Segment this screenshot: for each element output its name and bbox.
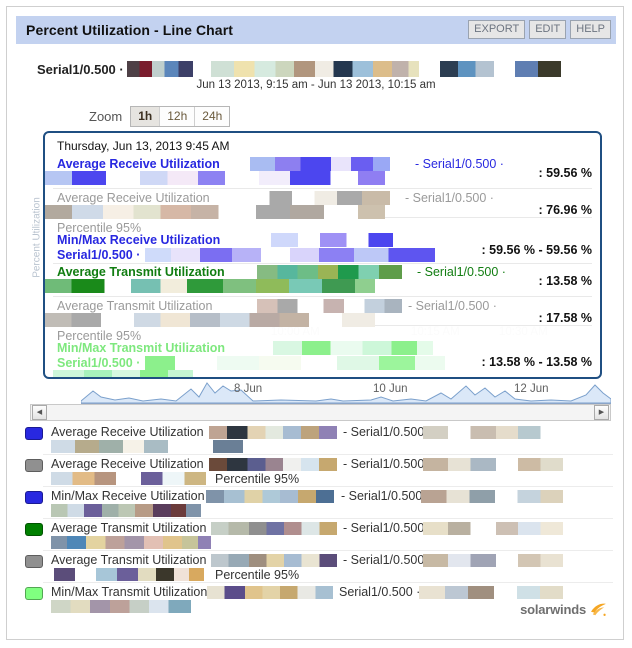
tooltip-series-id: - Serial1/0.500 ·: [405, 191, 494, 205]
legend-item[interactable]: Average Receive Utilization - Serial1/0.…: [21, 457, 621, 489]
tooltip-rows: Average Receive Utilization : 59.56 % - …: [45, 157, 600, 377]
redacted-block: [271, 233, 393, 247]
redacted-block: [419, 586, 563, 599]
redacted-block: [250, 191, 390, 205]
legend-item-label: Average Receive Utilization: [51, 425, 204, 439]
redacted-block: [51, 536, 211, 549]
redacted-block: [51, 440, 201, 453]
legend-item[interactable]: Average Transmit Utilization - Serial1/0…: [21, 553, 621, 585]
redacted-block: [421, 490, 563, 503]
export-button[interactable]: EXPORT: [468, 20, 525, 39]
scroll-right-button[interactable]: ▶: [594, 405, 609, 420]
solarwinds-logo: solarwinds: [520, 602, 607, 617]
tooltip-series-id: - Serial1/0.500 ·: [415, 157, 504, 171]
legend-color-swatch[interactable]: [25, 427, 43, 440]
tooltip-series-value: : 17.58 %: [538, 311, 592, 325]
tooltip-series-name: Average Receive Utilization: [57, 191, 210, 205]
navigator-tick: 8 Jun: [234, 383, 262, 395]
redacted-block: [209, 426, 337, 439]
redacted-block: [423, 522, 563, 535]
chart-date-range: Jun 13 2013, 9:15 am - Jun 13 2013, 10:1…: [16, 79, 616, 91]
redacted-block: [423, 554, 563, 567]
tooltip-series-subname: Serial1/0.500 ·: [57, 356, 140, 370]
legend-series-id: - Serial1/0.500 ·: [343, 425, 432, 439]
scroll-left-button[interactable]: ◀: [32, 405, 47, 420]
tooltip-series-subname: Serial1/0.500 ·: [57, 248, 140, 262]
title-bar-actions: EXPORT EDIT HELP: [468, 20, 611, 39]
redacted-block: [213, 440, 243, 453]
redacted-block: [209, 458, 337, 471]
y-axis-label: Percent Utilization: [32, 178, 43, 298]
tooltip-series-value: : 13.58 %: [538, 274, 592, 288]
redacted-block: [422, 61, 436, 77]
tooltip-series-name: Average Transmit Utilization: [57, 265, 225, 279]
tooltip-series-name: Min/Max Transmit Utilization: [57, 341, 225, 355]
legend-item[interactable]: Average Transmit Utilization - Serial1/0…: [21, 521, 621, 553]
redacted-block: [211, 554, 337, 567]
legend-item-label: Average Transmit Utilization: [51, 553, 206, 567]
legend-item-label: Average Transmit Utilization: [51, 521, 206, 535]
redacted-block: [497, 61, 511, 77]
chart-navigator[interactable]: 8 Jun 10 Jun 12 Jun ◀ ▶: [21, 377, 611, 421]
legend-item-label: Average Receive Utilization: [51, 457, 204, 471]
redacted-block: [45, 279, 375, 293]
redacted-block: [440, 61, 494, 77]
tooltip-row: Average Receive Utilization Percentile 9…: [45, 191, 600, 225]
legend-divider: [43, 518, 613, 519]
redacted-block: [515, 61, 561, 77]
legend-color-swatch[interactable]: [25, 523, 43, 536]
chevron-left-icon: ◀: [37, 409, 42, 416]
tooltip-series-value: : 76.96 %: [538, 203, 592, 217]
tooltip-row-divider: [53, 296, 592, 297]
legend-series-id: Serial1/0.500 ·: [339, 585, 420, 599]
legend-item-sublabel: Percentile 95%: [215, 568, 299, 582]
tooltip-row-divider: [53, 188, 592, 189]
chart-plot-area[interactable]: Percent Utilization 10:00 AM 10:15 AM 10…: [21, 127, 611, 389]
edit-button[interactable]: EDIT: [529, 20, 566, 39]
help-button[interactable]: HELP: [570, 20, 611, 39]
redacted-block: [45, 313, 375, 327]
redacted-block: [127, 61, 193, 77]
redacted-block: [423, 426, 563, 439]
horizontal-scrollbar[interactable]: ◀ ▶: [30, 404, 611, 421]
logo-wordmark: solarwinds: [520, 602, 586, 617]
chart-series-text: Serial1/0.500 ·: [37, 62, 124, 77]
chart-subtitle-row: Serial1/0.500 · Jun 13 2013, 9:15 am - J…: [16, 55, 616, 95]
legend-item-sublabel: Percentile 95%: [215, 472, 299, 486]
navigator-tick: 12 Jun: [514, 383, 549, 395]
tooltip-series-id: - Serial1/0.500 ·: [408, 299, 497, 313]
tooltip-series-name: Average Transmit Utilization: [57, 299, 212, 313]
tooltip-row-divider: [53, 263, 592, 264]
tooltip-series-name: Average Receive Utilization: [57, 157, 220, 171]
redacted-block: [145, 356, 445, 370]
zoom-controls: Zoom 1h 12h 24h: [89, 105, 230, 127]
redacted-block: [206, 490, 334, 503]
chart-legend: Average Receive Utilization - Serial1/0.…: [21, 425, 621, 617]
redacted-block: [207, 586, 333, 599]
legend-color-swatch[interactable]: [25, 491, 43, 504]
solarwinds-swoosh-icon: [589, 603, 607, 617]
redacted-block: [51, 472, 206, 485]
redacted-block: [51, 600, 191, 613]
legend-color-swatch[interactable]: [25, 555, 43, 568]
tooltip-date: Thursday, Jun 13, 2013 9:45 AM: [57, 139, 230, 153]
tooltip-series-name: Min/Max Receive Utilization: [57, 233, 220, 247]
zoom-option-12h[interactable]: 12h: [160, 107, 195, 126]
legend-color-swatch[interactable]: [25, 459, 43, 472]
chart-tooltip: Thursday, Jun 13, 2013 9:45 AM Average R…: [43, 131, 602, 379]
redacted-block: [197, 61, 207, 77]
legend-series-id: - Serial1/0.500 ·: [343, 521, 432, 535]
widget-frame: Percent Utilization - Line Chart EXPORT …: [6, 6, 624, 640]
redacted-block: [45, 171, 385, 185]
redacted-block: [45, 205, 385, 219]
redacted-block: [145, 248, 435, 262]
legend-item[interactable]: Average Receive Utilization - Serial1/0.…: [21, 425, 621, 457]
legend-divider: [43, 550, 613, 551]
legend-divider: [43, 454, 613, 455]
legend-series-id: - Serial1/0.500 ·: [341, 489, 430, 503]
tooltip-series-id: - Serial1/0.500 ·: [417, 265, 506, 279]
redacted-block: [250, 157, 390, 171]
zoom-label: Zoom: [89, 109, 122, 124]
chevron-right-icon: ▶: [599, 409, 604, 416]
title-bar: Percent Utilization - Line Chart EXPORT …: [16, 16, 616, 44]
tooltip-row: Average Receive Utilization : 59.56 % - …: [45, 157, 600, 191]
navigator-tick: 10 Jun: [373, 383, 408, 395]
tooltip-row: Average Transmit Utilization Percentile …: [45, 299, 600, 333]
legend-item-label: Min/Max Transmit Utilization: [51, 585, 207, 599]
legend-item-label: Min/Max Receive Utilization: [51, 489, 205, 503]
legend-divider: [43, 486, 613, 487]
zoom-option-1h[interactable]: 1h: [131, 107, 160, 126]
tooltip-series-value: : 13.58 % - 13.58 %: [482, 355, 592, 369]
chart-series-label: Serial1/0.500 ·: [37, 61, 561, 77]
zoom-button-group: 1h 12h 24h: [130, 106, 230, 127]
tooltip-series-value: : 59.56 %: [538, 166, 592, 180]
tooltip-row: Min/Max Transmit Utilization Serial1/0.5…: [45, 333, 600, 377]
redacted-block: [257, 265, 402, 279]
zoom-option-24h[interactable]: 24h: [195, 107, 229, 126]
legend-series-id: - Serial1/0.500 ·: [343, 553, 432, 567]
tooltip-series-value: : 59.56 % - 59.56 %: [482, 243, 592, 257]
redacted-block: [211, 522, 337, 535]
page-title: Percent Utilization - Line Chart: [26, 22, 233, 38]
legend-divider: [43, 582, 613, 583]
redacted-block: [211, 61, 419, 77]
legend-series-id: - Serial1/0.500 ·: [343, 457, 432, 471]
tooltip-row: Average Transmit Utilization : 13.58 % -…: [45, 265, 600, 299]
redacted-block: [54, 568, 204, 581]
redacted-block: [423, 458, 563, 471]
legend-color-swatch[interactable]: [25, 587, 43, 600]
redacted-block: [51, 504, 201, 517]
redacted-block: [257, 299, 402, 313]
navigator-axis: 8 Jun 10 Jun 12 Jun: [81, 383, 611, 399]
legend-item[interactable]: Min/Max Receive Utilization - Serial1/0.…: [21, 489, 621, 521]
tooltip-row: Min/Max Receive Utilization Serial1/0.50…: [45, 225, 600, 265]
redacted-block: [273, 341, 433, 355]
